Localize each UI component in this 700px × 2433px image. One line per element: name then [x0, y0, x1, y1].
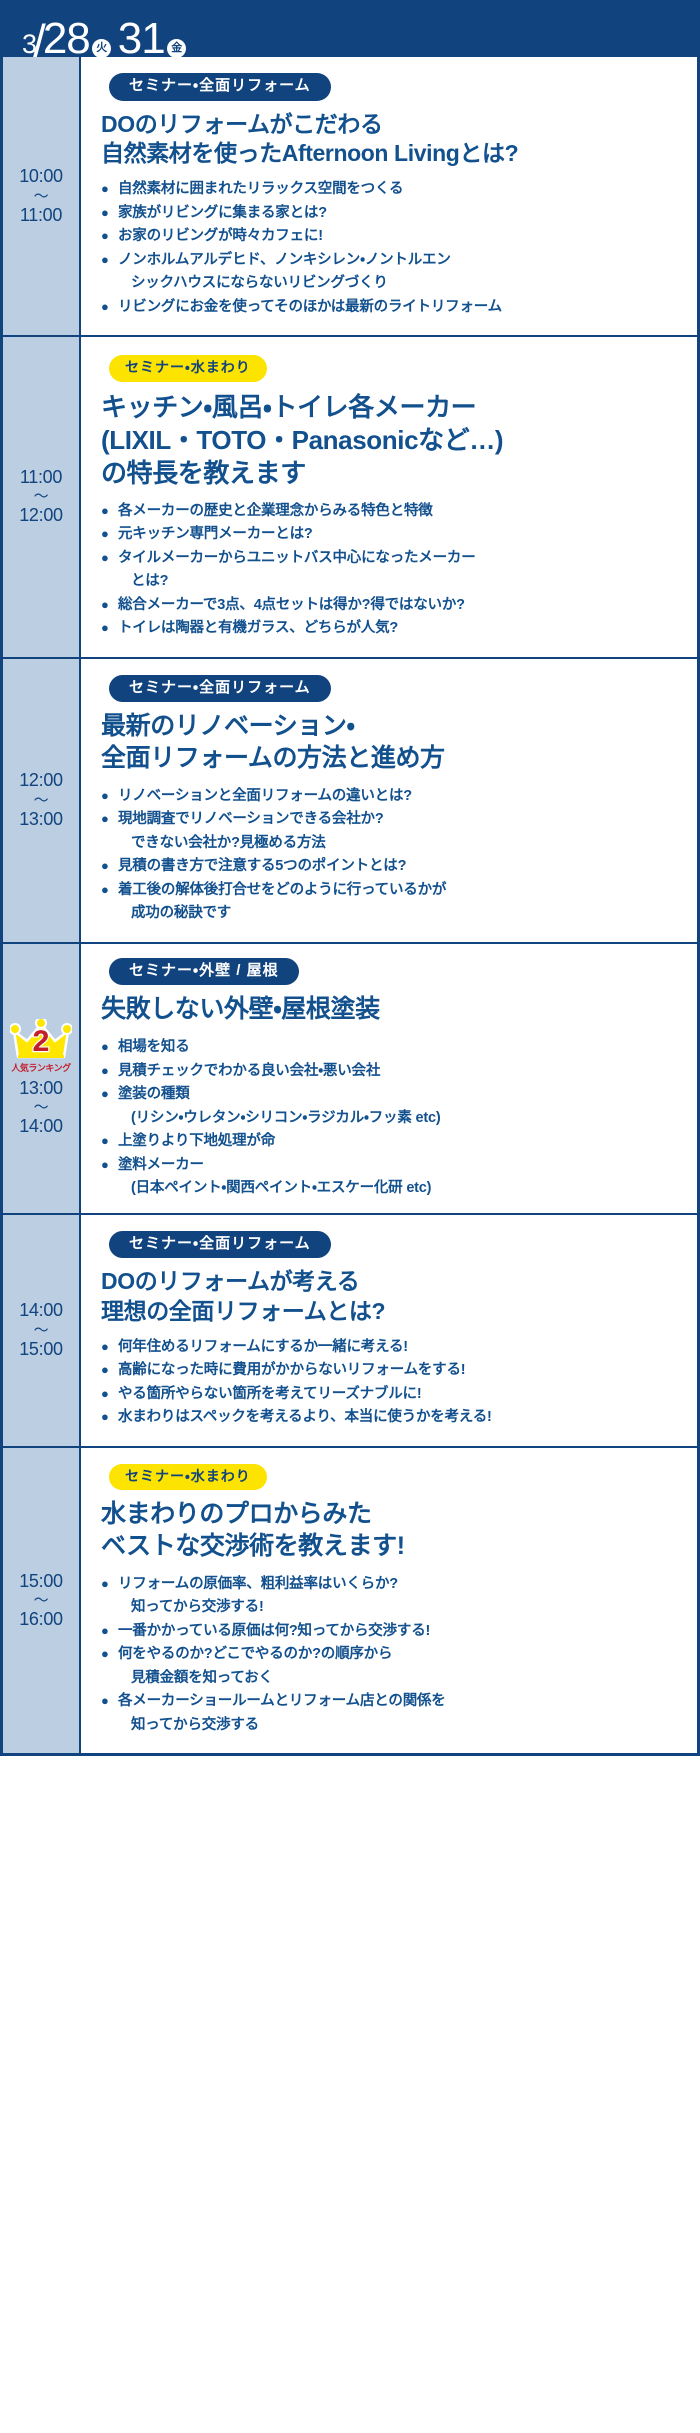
time-start: 14:00 — [19, 1300, 63, 1321]
time-separator: 〜 — [34, 1323, 49, 1338]
schedule-row: 12:00 〜 13:00 セミナー・全面リフォーム 最新のリノベーション・ 全… — [3, 659, 697, 944]
header-day-start: 28 — [43, 17, 90, 57]
bullet-item: 家族がリビングに集まる家とは? — [101, 202, 685, 225]
header-dow-end-badge: 金 — [167, 39, 186, 57]
bullet-item-continuation: 知ってから交渉する! — [101, 1596, 685, 1619]
time-separator: 〜 — [34, 189, 49, 204]
session-title: キッチン・風呂・トイレ各メーカー (LIXIL・TOTO・Panasonicなど… — [101, 391, 685, 490]
bullet-item: 何年住めるリフォームにするか一緒に考える! — [101, 1336, 685, 1359]
bullet-item-continuation: (日本ペイント・関西ペイント・エスケー化研 etc) — [101, 1177, 685, 1200]
session-title: 最新のリノベーション・ 全面リフォームの方法と進め方 — [101, 711, 685, 775]
bullet-item: トイレは陶器と有機ガラス、どちらが人気? — [101, 617, 685, 640]
bullet-item-continuation: 成功の秘訣です — [101, 902, 685, 925]
session-bullets: 自然素材に囲まれたリラックス空間をつくる 家族がリビングに集まる家とは? お家の… — [101, 178, 685, 319]
session-title: 水まわりのプロからみた ベストな交渉術を教えます! — [101, 1499, 685, 1563]
bullet-item: 一番かかっている原価は何?知ってから交渉する! — [101, 1620, 685, 1643]
time-separator: 〜 — [34, 793, 49, 808]
header-slash: / — [33, 18, 45, 57]
time-end: 12:00 — [19, 505, 63, 526]
bullet-item: やる箇所やらない箇所を考えてリーズナブルに! — [101, 1383, 685, 1406]
bullet-item: 水まわりはスペックを考えるより、本当に使うかを考える! — [101, 1406, 685, 1429]
time-range: 13:00 〜 14:00 — [19, 1078, 63, 1137]
schedule-row: 14:00 〜 15:00 セミナー・全面リフォーム DOのリフォームが考える … — [3, 1215, 697, 1448]
session-title: DOのリフォームが考える 理想の全面リフォームとは? — [101, 1267, 685, 1325]
schedule-row: 10:00 〜 11:00 セミナー・全面リフォーム DOのリフォームがこだわる… — [3, 57, 697, 337]
schedule-row: 11:00 〜 12:00 セミナー・水まわり キッチン・風呂・トイレ各メーカー… — [3, 337, 697, 658]
bullet-item: 着工後の解体後打合せをどのように行っているかが — [101, 879, 685, 902]
time-start: 10:00 — [19, 166, 63, 187]
time-range: 11:00 〜 12:00 — [19, 467, 63, 526]
seminar-schedule-page: 3 / 28 火 31 金 10:00 〜 11:00 セミナー・全面リフォーム… — [0, 0, 700, 2433]
bullet-item: 塗装の種類 — [101, 1083, 685, 1106]
bullet-item: 高齢になった時に費用がかからないリフォームをする! — [101, 1359, 685, 1382]
time-end: 14:00 — [19, 1116, 63, 1137]
time-cell: 10:00 〜 11:00 — [3, 57, 81, 335]
rank-number-overlay: 2 — [33, 1027, 50, 1057]
bullet-item-continuation: 見積金額を知っておく — [101, 1667, 685, 1690]
bullet-item: お家のリビングが時々カフェに! — [101, 225, 685, 248]
bullet-item-continuation: できない会社か?見極める方法 — [101, 832, 685, 855]
bullet-item: 各メーカーの歴史と企業理念からみる特色と特徴 — [101, 500, 685, 523]
time-separator: 〜 — [34, 1593, 49, 1608]
header-date-band: 3 / 28 火 31 金 — [0, 0, 700, 57]
time-cell: 2 2 人気ランキング 13:00 〜 14:00 — [3, 944, 81, 1213]
time-cell: 12:00 〜 13:00 — [3, 659, 81, 942]
crown-icon: 2 2 — [10, 1019, 72, 1063]
session-content: セミナー・全面リフォーム DOのリフォームが考える 理想の全面リフォームとは? … — [81, 1215, 697, 1446]
bullet-item: 総合メーカーで3点、4点セットは得か?得ではないか? — [101, 594, 685, 617]
session-bullets: リノベーションと全面リフォームの違いとは? 現地調査でリノベーションできる会社か… — [101, 785, 685, 926]
category-badge: セミナー・外壁 / 屋根 — [109, 958, 299, 986]
time-start: 11:00 — [20, 467, 62, 488]
time-cell: 15:00 〜 16:00 — [3, 1448, 81, 1753]
time-end: 13:00 — [19, 809, 63, 830]
category-badge: セミナー・水まわり — [109, 1464, 267, 1491]
schedule-table: 10:00 〜 11:00 セミナー・全面リフォーム DOのリフォームがこだわる… — [0, 57, 700, 1756]
session-bullets: 何年住めるリフォームにするか一緒に考える! 高齢になった時に費用がかからないリフ… — [101, 1336, 685, 1430]
bullet-item: 自然素材に囲まれたリラックス空間をつくる — [101, 178, 685, 201]
header-day-end: 31 — [118, 17, 165, 57]
session-bullets: 各メーカーの歴史と企業理念からみる特色と特徴 元キッチン専門メーカーとは? タイ… — [101, 500, 685, 641]
time-start: 15:00 — [19, 1571, 63, 1592]
time-start: 13:00 — [19, 1078, 63, 1099]
bullet-item: 上塗りより下地処理が命 — [101, 1130, 685, 1153]
session-bullets: リフォームの原価率、粗利益率はいくらか? 知ってから交渉する! 一番かかっている… — [101, 1573, 685, 1737]
time-start: 12:00 — [19, 770, 63, 791]
bullet-item: タイルメーカーからユニットバス中心になったメーカー — [101, 547, 685, 570]
time-end: 11:00 — [20, 205, 62, 226]
time-range: 14:00 〜 15:00 — [19, 1300, 63, 1359]
category-badge: セミナー・全面リフォーム — [109, 675, 331, 703]
bullet-item: 何をやるのか?どこでやるのか?の順序から — [101, 1643, 685, 1666]
bullet-item: リビングにお金を使ってそのほかは最新のライトリフォーム — [101, 296, 685, 319]
bullet-item-continuation: とは? — [101, 570, 685, 593]
session-bullets: 相場を知る 見積チェックでわかる良い会社・悪い会社 塗装の種類 (リシン・ウレタ… — [101, 1036, 685, 1200]
bullet-item-continuation: (リシン・ウレタン・シリコン・ラジカル・フッ素 etc) — [101, 1107, 685, 1130]
bullet-item: ノンホルムアルデヒド、ノンキシレン・ノントルエン — [101, 249, 685, 272]
bullet-item: リノベーションと全面リフォームの違いとは? — [101, 785, 685, 808]
schedule-row: 2 2 人気ランキング 13:00 〜 14:00 セミナー・外壁 / 屋根 失… — [3, 944, 697, 1215]
session-title: DOのリフォームがこだわる 自然素材を使ったAfternoon Livingとは… — [101, 110, 685, 168]
time-separator: 〜 — [34, 1100, 49, 1115]
header-date: 3 / 28 火 31 金 — [22, 14, 187, 57]
time-range: 15:00 〜 16:00 — [19, 1571, 63, 1630]
time-end: 16:00 — [19, 1609, 63, 1630]
session-content: セミナー・水まわり キッチン・風呂・トイレ各メーカー (LIXIL・TOTO・P… — [81, 337, 697, 656]
session-content: セミナー・全面リフォーム DOのリフォームがこだわる 自然素材を使ったAfter… — [81, 57, 697, 335]
time-cell: 14:00 〜 15:00 — [3, 1215, 81, 1446]
bullet-item: 相場を知る — [101, 1036, 685, 1059]
bullet-item: 塗料メーカー — [101, 1154, 685, 1177]
bullet-item: 元キッチン専門メーカーとは? — [101, 523, 685, 546]
session-content: セミナー・外壁 / 屋根 失敗しない外壁・屋根塗装 相場を知る 見積チェックでわ… — [81, 944, 697, 1213]
schedule-row: 15:00 〜 16:00 セミナー・水まわり 水まわりのプロからみた ベストな… — [3, 1448, 697, 1753]
bullet-item: 見積の書き方で注意する5つのポイントとは? — [101, 855, 685, 878]
time-cell: 11:00 〜 12:00 — [3, 337, 81, 656]
bullet-item: 見積チェックでわかる良い会社・悪い会社 — [101, 1060, 685, 1083]
bullet-item: 現地調査でリノベーションできる会社か? — [101, 808, 685, 831]
session-title: 失敗しない外壁・屋根塗装 — [101, 994, 685, 1026]
bullet-item-continuation: シックハウスにならないリビングづくり — [101, 272, 685, 295]
time-end: 15:00 — [19, 1339, 63, 1360]
time-range: 10:00 〜 11:00 — [19, 166, 63, 225]
category-badge: セミナー・水まわり — [109, 355, 267, 382]
session-content: セミナー・水まわり 水まわりのプロからみた ベストな交渉術を教えます! リフォー… — [81, 1448, 697, 1753]
bullet-item-continuation: 知ってから交渉する — [101, 1714, 685, 1737]
category-badge: セミナー・全面リフォーム — [109, 73, 331, 101]
time-range: 12:00 〜 13:00 — [19, 770, 63, 829]
time-separator: 〜 — [34, 489, 49, 504]
bullet-item: 各メーカーショールームとリフォーム店との関係を — [101, 1690, 685, 1713]
category-badge: セミナー・全面リフォーム — [109, 1231, 331, 1259]
bullet-item: リフォームの原価率、粗利益率はいくらか? — [101, 1573, 685, 1596]
popularity-rank-badge: 2 2 人気ランキング — [8, 1019, 74, 1074]
header-dow-start-badge: 火 — [92, 39, 111, 57]
session-content: セミナー・全面リフォーム 最新のリノベーション・ 全面リフォームの方法と進め方 … — [81, 659, 697, 942]
